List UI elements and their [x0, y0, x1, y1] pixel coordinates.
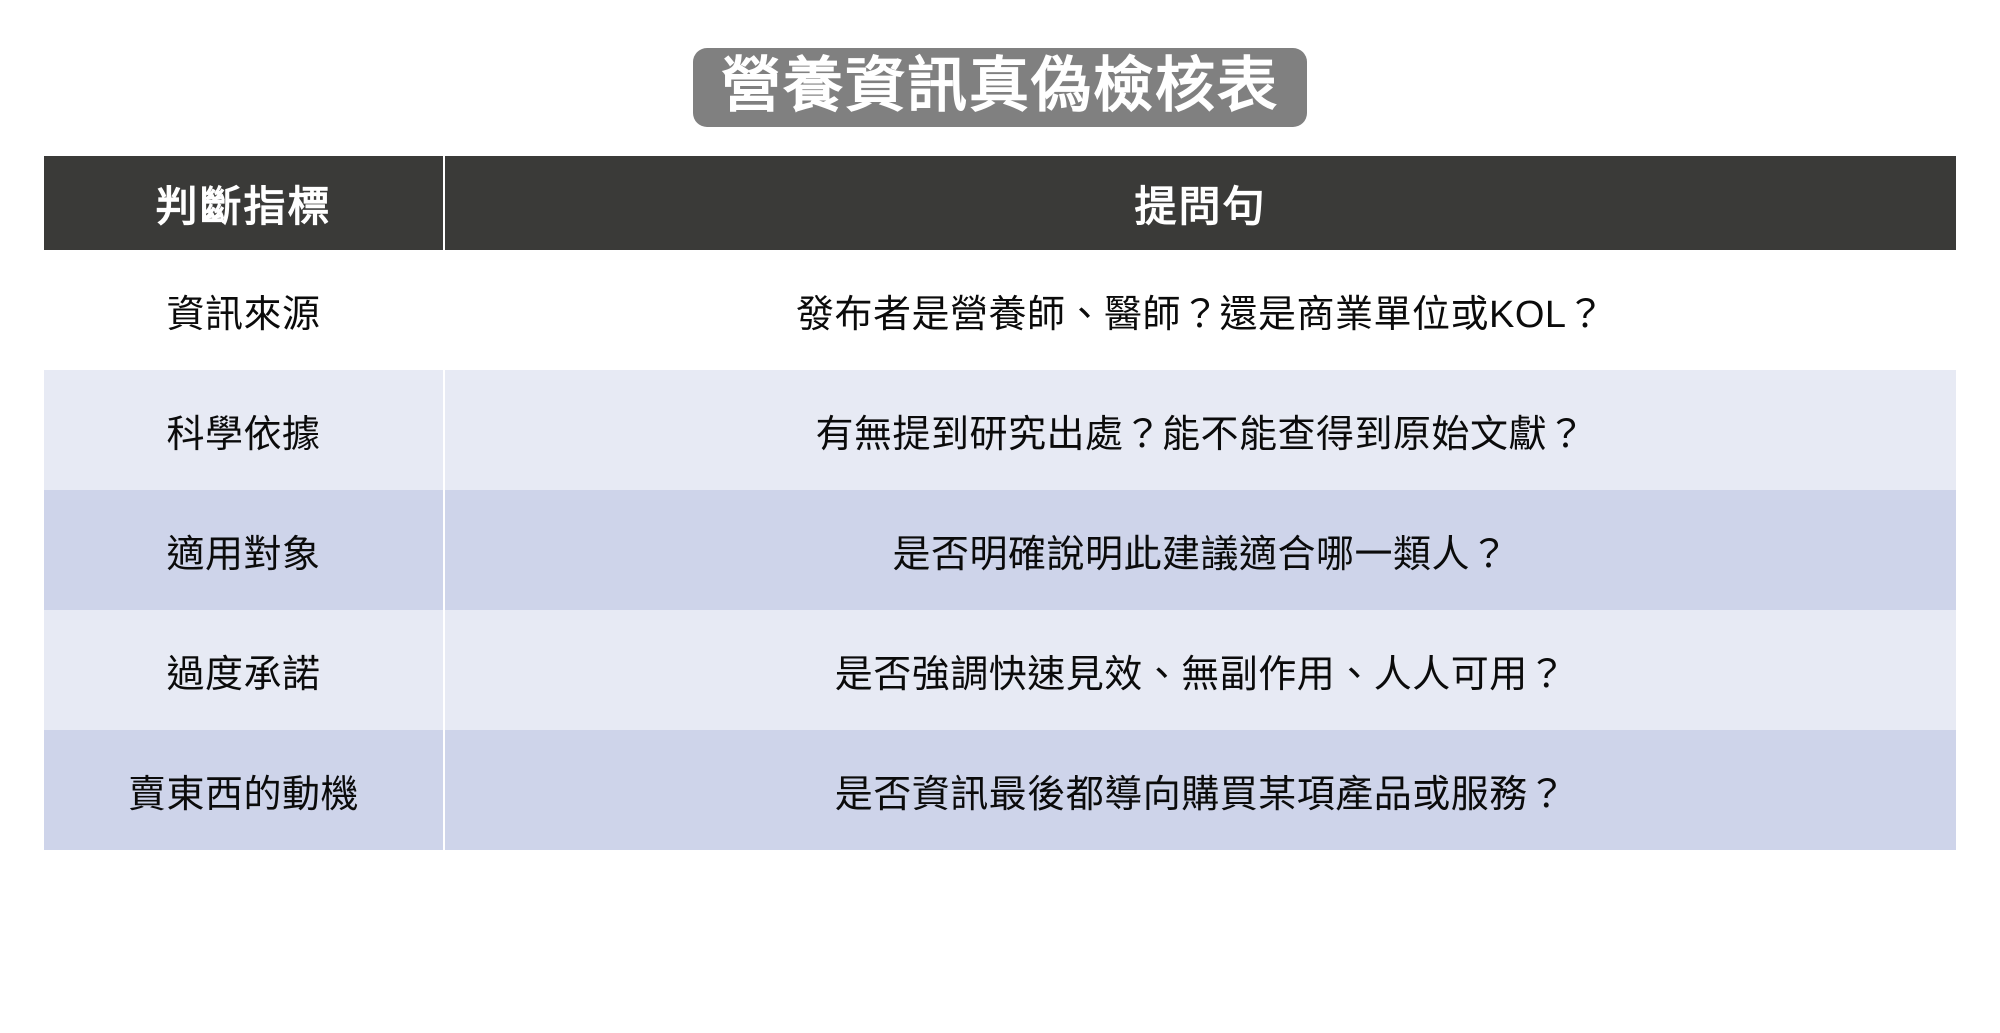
page-title: 營養資訊真偽檢核表: [693, 48, 1307, 127]
table-row: 資訊來源發布者是營養師、醫師？還是商業單位或KOL？: [44, 250, 1956, 370]
title-banner: 營養資訊真偽檢核表: [0, 48, 2000, 130]
table-row: 賣東西的動機是否資訊最後都導向購買某項產品或服務？: [44, 730, 1956, 850]
table-header-row: 判斷指標 提問句: [44, 156, 1956, 250]
table-row: 適用對象是否明確說明此建議適合哪一類人？: [44, 490, 1956, 610]
cell-question: 是否資訊最後都導向購買某項產品或服務？: [444, 730, 1956, 850]
table-row: 科學依據有無提到研究出處？能不能查得到原始文獻？: [44, 370, 1956, 490]
column-header-indicator: 判斷指標: [44, 156, 444, 250]
checklist-table: 判斷指標 提問句 資訊來源發布者是營養師、醫師？還是商業單位或KOL？科學依據有…: [44, 156, 1956, 850]
column-header-question: 提問句: [444, 156, 1956, 250]
cell-indicator: 科學依據: [44, 370, 444, 490]
cell-question: 發布者是營養師、醫師？還是商業單位或KOL？: [444, 250, 1956, 370]
cell-question: 有無提到研究出處？能不能查得到原始文獻？: [444, 370, 1956, 490]
cell-indicator: 賣東西的動機: [44, 730, 444, 850]
cell-question: 是否明確說明此建議適合哪一類人？: [444, 490, 1956, 610]
cell-indicator: 資訊來源: [44, 250, 444, 370]
table-body: 資訊來源發布者是營養師、醫師？還是商業單位或KOL？科學依據有無提到研究出處？能…: [44, 250, 1956, 850]
table-row: 過度承諾是否強調快速見效、無副作用、人人可用？: [44, 610, 1956, 730]
cell-indicator: 適用對象: [44, 490, 444, 610]
checklist-sheet: 營養資訊真偽檢核表 判斷指標 提問句 資訊來源發布者是營養師、醫師？還是商業單位…: [0, 0, 2000, 1033]
cell-indicator: 過度承諾: [44, 610, 444, 730]
cell-question: 是否強調快速見效、無副作用、人人可用？: [444, 610, 1956, 730]
table-header: 判斷指標 提問句: [44, 156, 1956, 250]
